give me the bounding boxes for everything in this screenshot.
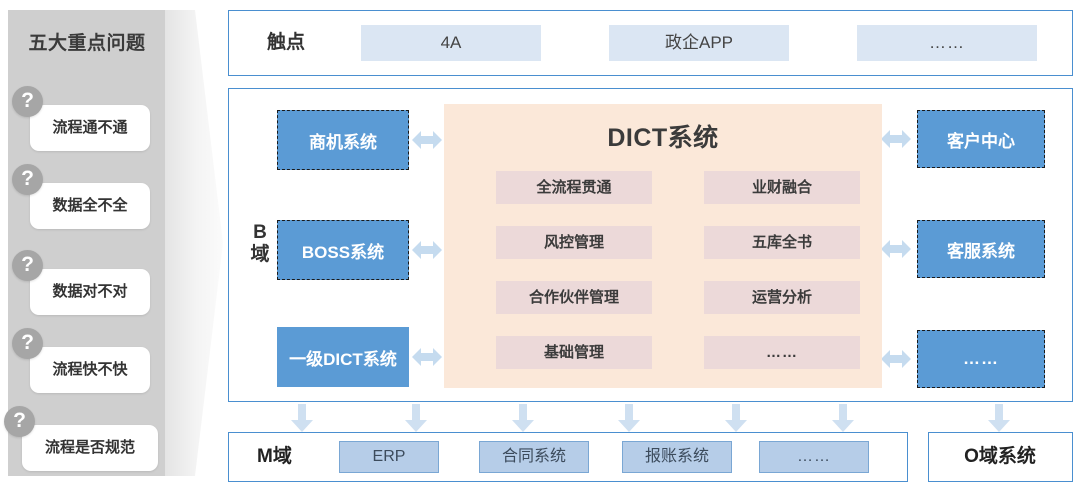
down-arrow-icon [725,404,747,432]
issue-label-1: 流程通不通 [30,105,150,151]
issue-label-3: 数据对不对 [30,269,150,315]
system-label-boss: BOSS系统 [302,238,384,263]
issue-label-4: 流程快不快 [30,347,150,393]
touchpoint-panel: 触点 4A 政企APP …… [228,10,1073,76]
system-label-customer-center: 客户中心 [947,127,1015,152]
key-issues-panel: 五大重点问题 ? 流程通不通 ? 数据全不全 ? 数据对不对 ? 流程快不快 ?… [8,10,166,476]
b-domain-label: B 域 [243,222,277,266]
capability-box-full-process[interactable]: 全流程贯通 [496,171,652,204]
issue-card-3[interactable]: ? 数据对不对 [30,269,150,315]
down-arrow-icon [291,404,313,432]
capability-box-risk-control[interactable]: 风控管理 [496,226,652,259]
m-domain-box-contract[interactable]: 合同系统 [479,441,589,473]
b-domain-label-line1: B [253,222,267,243]
capability-box-basic-mgmt[interactable]: 基础管理 [496,336,652,369]
capability-box-five-libraries[interactable]: 五库全书 [704,226,860,259]
down-arrow-icon [988,404,1010,432]
m-domain-label: M域 [257,433,292,480]
issue-card-1[interactable]: ? 流程通不通 [30,105,150,151]
down-arrow-icon [405,404,427,432]
issue-card-4[interactable]: ? 流程快不快 [30,347,150,393]
issue-label-2: 数据全不全 [30,183,150,229]
issue-card-5[interactable]: ? 流程是否规范 [22,425,158,471]
b-domain-label-line2: 域 [250,244,269,265]
issue-label-5: 流程是否规范 [22,425,158,471]
system-box-primary-dict[interactable]: 一级DICT系统 [277,327,409,387]
capability-box-operation-analysis[interactable]: 运营分析 [704,281,860,314]
m-domain-box-more[interactable]: …… [759,441,869,473]
system-box-boss[interactable]: BOSS系统 [277,220,409,280]
touchpoint-box-more[interactable]: …… [857,25,1037,61]
touchpoint-label: 触点 [267,11,305,74]
system-box-service[interactable]: 客服系统 [917,220,1045,278]
double-arrow-icon [412,344,442,370]
system-label-opportunity: 商机系统 [309,128,377,153]
double-arrow-icon [412,237,442,263]
down-arrow-icon [618,404,640,432]
capability-box-more[interactable]: …… [704,336,860,369]
m-domain-box-reimbursement[interactable]: 报账系统 [622,441,732,473]
diagram-canvas: 五大重点问题 ? 流程通不通 ? 数据全不全 ? 数据对不对 ? 流程快不快 ?… [0,0,1080,490]
double-arrow-icon [881,236,911,262]
dict-system-title: DICT系统 [444,118,882,154]
system-box-customer-center[interactable]: 客户中心 [917,110,1045,168]
issue-card-2[interactable]: ? 数据全不全 [30,183,150,229]
dict-system-panel: DICT系统 全流程贯通 风控管理 合作伙伴管理 基础管理 业财融合 五库全书 … [444,104,882,388]
m-domain-panel: M域 ERP 合同系统 报账系统 …… [228,432,908,482]
o-domain-panel: O域系统 [928,432,1073,482]
system-box-opportunity[interactable]: 商机系统 [277,110,409,170]
touchpoint-box-4a[interactable]: 4A [361,25,541,61]
touchpoint-box-gov-app[interactable]: 政企APP [609,25,789,61]
down-arrow-icon [832,404,854,432]
chevron-right-connector-icon [165,10,223,476]
capability-box-partner-mgmt[interactable]: 合作伙伴管理 [496,281,652,314]
capability-box-business-finance[interactable]: 业财融合 [704,171,860,204]
system-box-more[interactable]: …… [917,330,1045,388]
double-arrow-icon [881,346,911,372]
key-issues-title: 五大重点问题 [8,28,166,55]
m-domain-box-erp[interactable]: ERP [339,441,439,473]
down-arrow-icon [512,404,534,432]
double-arrow-icon [412,127,442,153]
system-label-primary-dict: 一级DICT系统 [289,345,397,370]
system-label-more: …… [963,349,999,369]
system-label-service: 客服系统 [947,237,1015,262]
double-arrow-icon [881,126,911,152]
o-domain-label: O域系统 [929,433,1071,480]
